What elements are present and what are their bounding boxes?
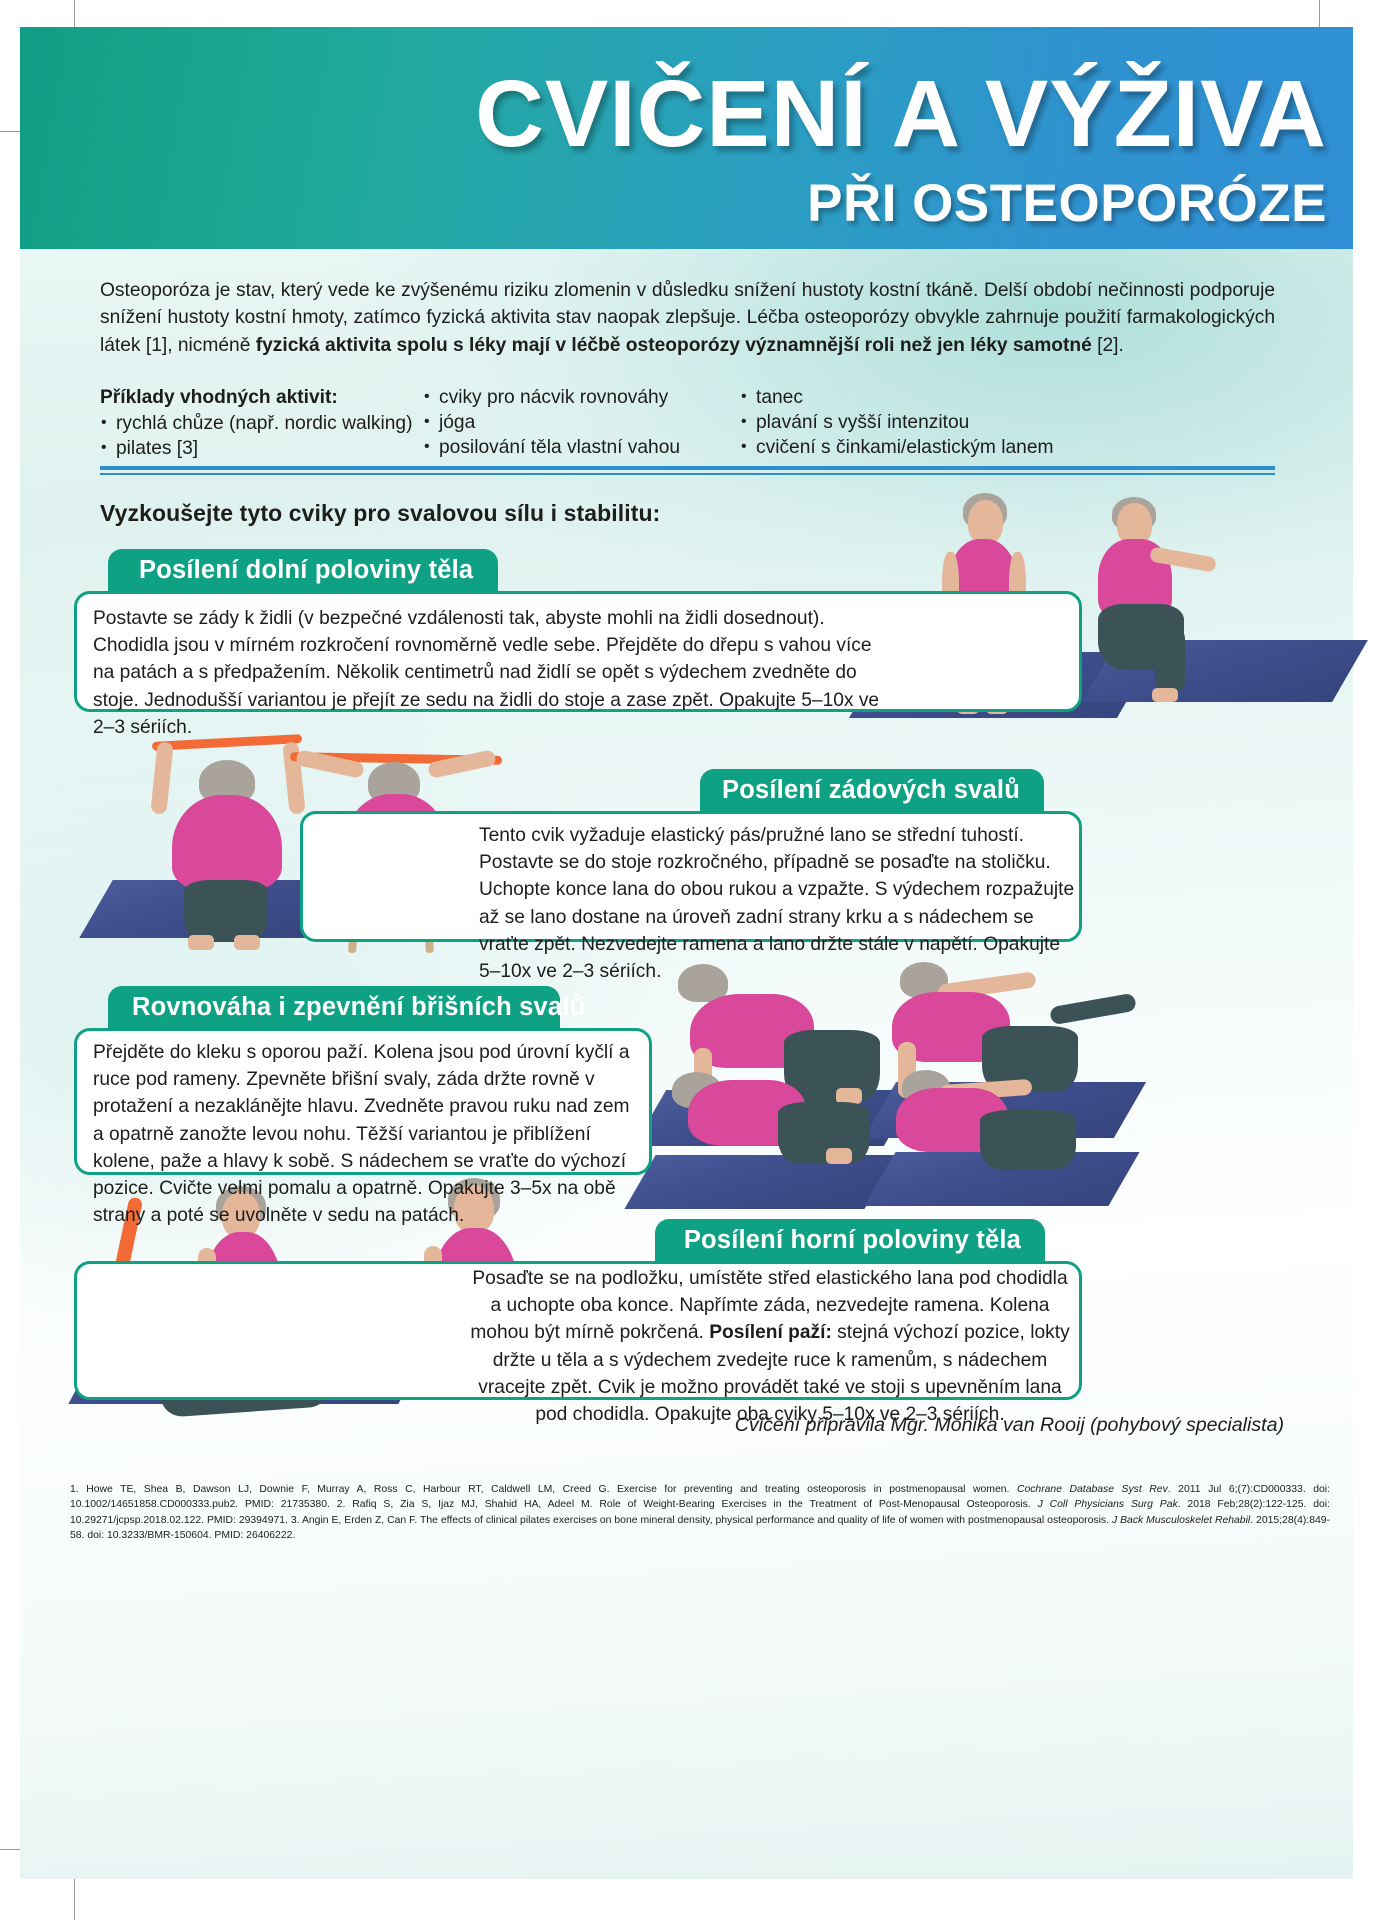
divider-line-thin (100, 473, 1275, 475)
reference-1-journal: Cochrane Database Syst Rev (1017, 1484, 1168, 1495)
exercise-3-text: Přejděte do kleku s oporou paží. Kolena … (93, 1039, 638, 1229)
intro-paragraph: Osteoporóza je stav, který vede ke zvýše… (100, 277, 1275, 359)
exercise-4-text-bold: Posílení paží: (709, 1322, 832, 1343)
exercise-4-title: Posílení horní poloviny těla (655, 1219, 1045, 1263)
list-item: rychlá chůze (např. nordic walking) (100, 411, 430, 436)
list-item: cvičení s činkami/elastickým lanem (740, 435, 1160, 460)
exercise-2-text: Tento cvik vyžaduje elastický pás/pružné… (479, 822, 1079, 985)
section-heading-try-exercises: Vyzkoušejte tyto cviky pro svalovou sílu… (100, 500, 660, 527)
reference-2-journal: J Coll Physicians Surg Pak (1038, 1499, 1178, 1510)
page-subtitle: PŘI OSTEOPORÓZE (807, 177, 1327, 230)
exercise-3-title: Rovnováha i zpevnění břišních svalů (108, 986, 560, 1030)
list-item: posilování těla vlastní vahou (423, 435, 753, 460)
crop-mark-bottom-left-v (74, 1874, 75, 1920)
activities-column-1: Příklady vhodných aktivit: rychlá chůze … (100, 385, 430, 461)
reference-3-a: 3. Angin E, Erden Z, Can F. The effects … (291, 1515, 1112, 1526)
list-item: tanec (740, 385, 1160, 410)
list-item: plavání s vyšší intenzitou (740, 410, 1160, 435)
exercise-4-text: Posaďte se na podložku, umístěte střed e… (470, 1265, 1070, 1428)
divider-line-thick (100, 466, 1275, 470)
divider (100, 466, 1275, 475)
reference-3-journal: J Back Musculoskelet Rehabil (1112, 1515, 1250, 1526)
intro-text-2: [2]. (1092, 335, 1124, 356)
references-list: 1. Howe TE, Shea B, Dawson LJ, Downie F,… (70, 1482, 1330, 1544)
page-title: CVIČENÍ A VÝŽIVA (475, 69, 1327, 159)
activities-heading: Příklady vhodných aktivit: (100, 385, 430, 410)
activities-column-2: cviky pro nácvik rovnováhy jóga posilová… (423, 385, 753, 460)
list-item: cviky pro nácvik rovnováhy (423, 385, 753, 410)
activities-column-3: tanec plavání s vyšší intenzitou cvičení… (740, 385, 1160, 460)
exercise-2-title: Posílení zádových svalů (700, 769, 1044, 813)
reference-2-a: 2. Rafiq S, Zia S, Ijaz MJ, Shahid HA, A… (337, 1499, 1038, 1510)
exercise-1-text: Postavte se zády k židli (v bezpečné vzd… (93, 605, 883, 741)
list-item: jóga (423, 410, 753, 435)
header-banner: CVIČENÍ A VÝŽIVA PŘI OSTEOPORÓZE (20, 27, 1353, 249)
exercise-1-title: Posílení dolní poloviny těla (108, 549, 498, 593)
poster-page: CVIČENÍ A VÝŽIVA PŘI OSTEOPORÓZE Osteopo… (0, 0, 1394, 1920)
intro-text-bold: fyzická aktivita spolu s léky mají v léč… (256, 335, 1092, 356)
reference-1-a: 1. Howe TE, Shea B, Dawson LJ, Downie F,… (70, 1484, 1017, 1495)
list-item: pilates [3] (100, 436, 430, 461)
